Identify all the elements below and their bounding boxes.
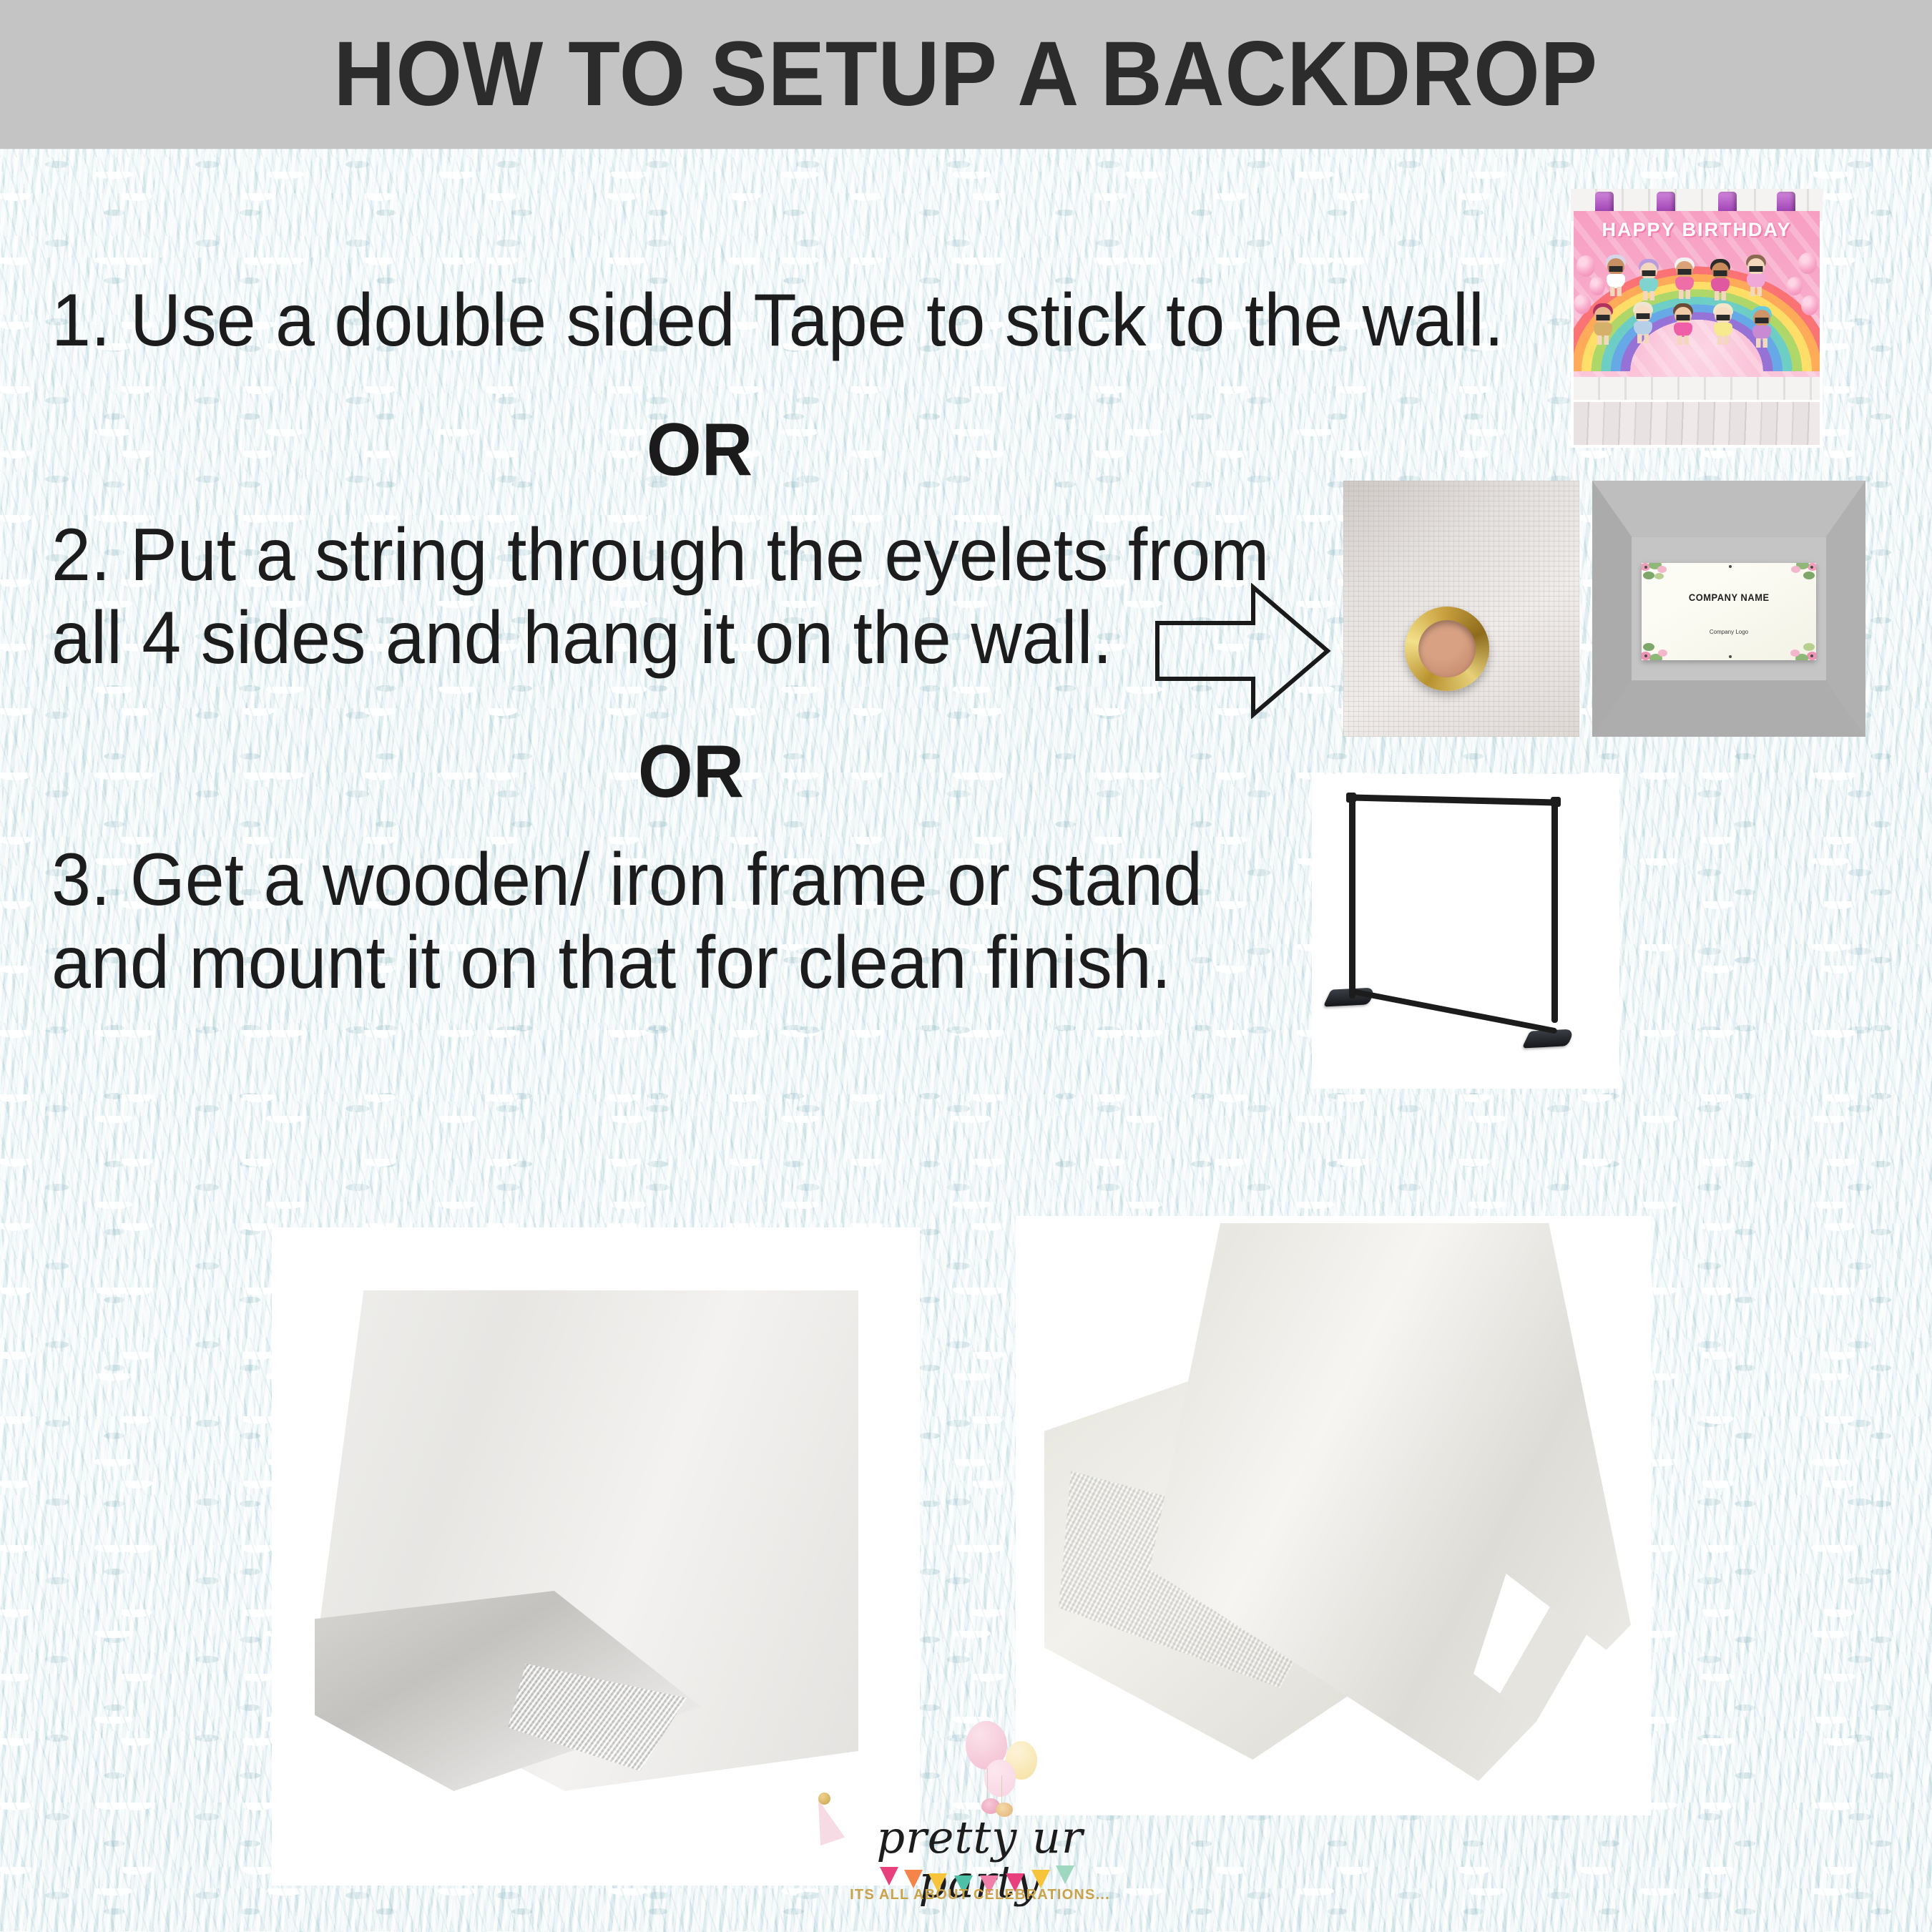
stand-knob (1551, 797, 1561, 807)
photo-company-banner: COMPANY NAME Company Logo (1592, 481, 1865, 737)
lol-doll (1589, 307, 1617, 348)
logo-balloon (984, 1760, 1016, 1797)
stand-right-pole (1551, 801, 1558, 1023)
step-2-text: 2. Put a string through the eyelets from… (52, 514, 1275, 680)
grommet-icon (1405, 607, 1489, 691)
right-arrow-icon (1153, 583, 1332, 719)
wooden-floor (1574, 402, 1820, 445)
lol-doll (1635, 263, 1662, 304)
party-hat-pom-icon (818, 1793, 830, 1805)
lol-doll (1602, 258, 1629, 300)
wall-tiles-lower (1574, 377, 1820, 400)
photo-lol-backdrop: HAPPY BIRTHDAY (1571, 189, 1823, 448)
lol-doll (1748, 310, 1775, 351)
lol-doll (1629, 305, 1657, 347)
stand-knob (1346, 793, 1356, 803)
balloon (1787, 277, 1803, 295)
balloon (1801, 295, 1818, 315)
vinyl-banner: COMPANY NAME Company Logo (1642, 563, 1817, 660)
bunting-flags (880, 1864, 1094, 1888)
infographic-page: HOW TO SETUP A BACKDROP 1. Use a double … (0, 0, 1932, 1932)
lol-doll (1671, 261, 1698, 303)
balloon (1798, 252, 1817, 274)
lol-doll (1710, 307, 1737, 348)
banner-company-logo: Company Logo (1642, 629, 1817, 635)
photo-backdrop-stand (1312, 774, 1619, 1089)
page-title: HOW TO SETUP A BACKDROP (334, 29, 1598, 120)
step-1-text: 1. Use a double sided Tape to stick to t… (52, 279, 1513, 362)
separator-or-2: OR (638, 730, 744, 815)
lol-doll (1742, 258, 1770, 300)
banner-company-name: COMPANY NAME (1649, 592, 1810, 603)
photo-eyelet-grommet (1343, 481, 1579, 737)
step-3-text: 3. Get a wooden/ iron frame or stand and… (52, 838, 1241, 1005)
balloon (1577, 255, 1595, 277)
separator-or-1: OR (647, 408, 752, 493)
lol-doll (1669, 307, 1697, 348)
brand-logo: pretty ur party ITS ALL ABOUT CELEBRATIO… (787, 1724, 1159, 1924)
balloon (1574, 294, 1591, 314)
header-band: HOW TO SETUP A BACKDROP (0, 0, 1932, 149)
brand-tagline: ITS ALL ABOUT CELEBRATIONS... (830, 1887, 1130, 1903)
lol-backdrop-sheet: HAPPY BIRTHDAY (1574, 211, 1820, 377)
stand-left-pole (1349, 797, 1355, 999)
stand-background (1312, 774, 1619, 1089)
lol-doll (1707, 263, 1734, 304)
backdrop-happy-birthday-text: HAPPY BIRTHDAY (1574, 219, 1820, 241)
